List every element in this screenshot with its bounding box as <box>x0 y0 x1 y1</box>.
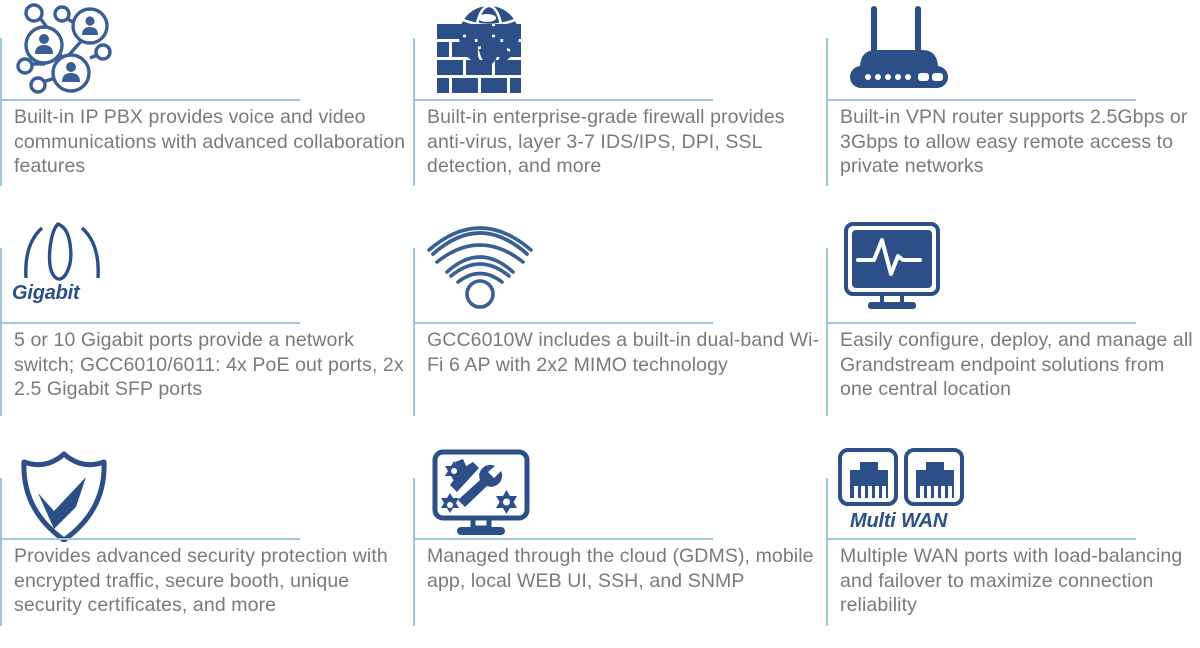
monitor-tools-icon <box>425 448 537 542</box>
horizontal-divider <box>413 322 713 324</box>
wifi-icon <box>425 220 535 316</box>
feature-card-firewall: Built-in enterprise-grade firewall provi… <box>413 0 826 210</box>
feature-card-ip-pbx: Built-in IP PBX provides voice and video… <box>0 0 413 210</box>
horizontal-divider <box>826 322 1136 324</box>
horizontal-divider <box>826 99 1136 101</box>
feature-description: Easily configure, deploy, and manage all… <box>840 328 1196 402</box>
vertical-accent-rule <box>413 38 415 186</box>
feature-description: Managed through the cloud (GDMS), mobile… <box>427 544 822 593</box>
feature-grid: Built-in IP PBX provides voice and video… <box>0 0 1200 648</box>
feature-card-cloud-management: Managed through the cloud (GDMS), mobile… <box>413 440 826 648</box>
horizontal-divider <box>0 538 300 540</box>
feature-card-wifi6: GCC6010W includes a built-in dual-band W… <box>413 210 826 440</box>
feature-card-multi-wan: Multi WAN Multiple WAN ports with load-b… <box>826 440 1200 648</box>
vertical-accent-rule <box>413 248 415 416</box>
vertical-accent-rule <box>413 478 415 626</box>
feature-description: Built-in IP PBX provides voice and video… <box>14 105 409 179</box>
firewall-globe-icon <box>425 2 537 94</box>
vertical-accent-rule <box>826 478 828 626</box>
monitor-pulse-icon <box>838 220 946 316</box>
feature-description: 5 or 10 Gigabit ports provide a network … <box>14 328 409 402</box>
horizontal-divider <box>413 538 713 540</box>
vertical-accent-rule <box>826 38 828 186</box>
feature-card-vpn-router: Built-in VPN router supports 2.5Gbps or … <box>826 0 1200 210</box>
gigabit-speed-icon: Gigabit <box>12 220 112 316</box>
icon-label: Multi WAN <box>850 510 947 533</box>
vpn-router-icon <box>838 2 960 94</box>
feature-card-gigabit-ports: Gigabit 5 or 10 Gigabit ports provide a … <box>0 210 413 440</box>
vertical-accent-rule <box>0 38 2 186</box>
feature-description: Multiple WAN ports with load-balancing a… <box>840 544 1196 618</box>
feature-card-security: Provides advanced security protection wi… <box>0 440 413 648</box>
horizontal-divider <box>0 99 300 101</box>
horizontal-divider <box>0 322 300 324</box>
vertical-accent-rule <box>0 478 2 626</box>
rj45-ports-icon: Multi WAN <box>838 448 966 542</box>
horizontal-divider <box>413 99 713 101</box>
vertical-accent-rule <box>0 248 2 416</box>
feature-description: Built-in enterprise-grade firewall provi… <box>427 105 822 179</box>
shield-check-icon <box>12 448 116 542</box>
network-users-icon <box>12 2 120 94</box>
feature-description: Built-in VPN router supports 2.5Gbps or … <box>840 105 1196 179</box>
icon-label: Gigabit <box>12 282 80 305</box>
horizontal-divider <box>826 538 1136 540</box>
feature-description: GCC6010W includes a built-in dual-band W… <box>427 328 822 377</box>
feature-description: Provides advanced security protection wi… <box>14 544 409 618</box>
vertical-accent-rule <box>826 248 828 416</box>
feature-card-central-management: Easily configure, deploy, and manage all… <box>826 210 1200 440</box>
